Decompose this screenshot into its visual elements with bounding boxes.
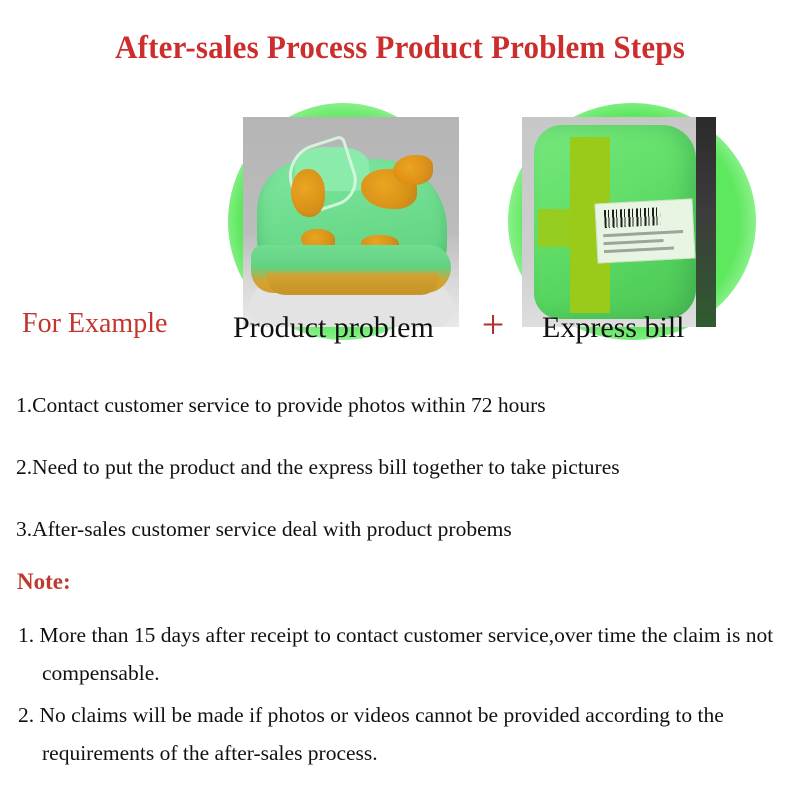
product-problem-photo[interactable] — [243, 117, 459, 327]
product-problem-photo-card — [228, 103, 458, 340]
stain-mark — [291, 169, 325, 217]
for-example-label: For Example — [22, 308, 167, 340]
note-list: 1. More than 15 days after receipt to co… — [18, 616, 790, 776]
page-title: After-sales Process Product Problem Step… — [24, 30, 776, 67]
step-item-3: 3.After-sales customer service deal with… — [16, 517, 786, 542]
label-text-line — [604, 247, 674, 254]
step-item-1: 1.Contact customer service to provide ph… — [16, 393, 786, 418]
express-bill-photo-card — [508, 103, 756, 340]
photo-edge-shadow — [696, 117, 716, 327]
note-heading: Note: — [17, 569, 71, 595]
product-problem-caption: Product problem — [233, 311, 434, 345]
step-item-2: 2.Need to put the product and the expres… — [16, 455, 786, 480]
steps-list: 1.Contact customer service to provide ph… — [16, 393, 786, 579]
express-bill-caption: Express bill — [542, 311, 685, 345]
label-text-line — [604, 239, 664, 245]
stain-mark — [393, 155, 433, 185]
shoe-outsole — [267, 273, 439, 295]
plus-icon: + — [480, 305, 506, 345]
shipping-label — [594, 198, 695, 263]
note-item-2: 2. No claims will be made if photos or v… — [18, 696, 790, 772]
example-row: For Example Product problem + — [0, 100, 800, 345]
express-bill-photo[interactable] — [522, 117, 716, 327]
note-item-1: 1. More than 15 days after receipt to co… — [18, 616, 790, 692]
label-text-line — [603, 230, 683, 237]
barcode-icon — [604, 207, 661, 228]
